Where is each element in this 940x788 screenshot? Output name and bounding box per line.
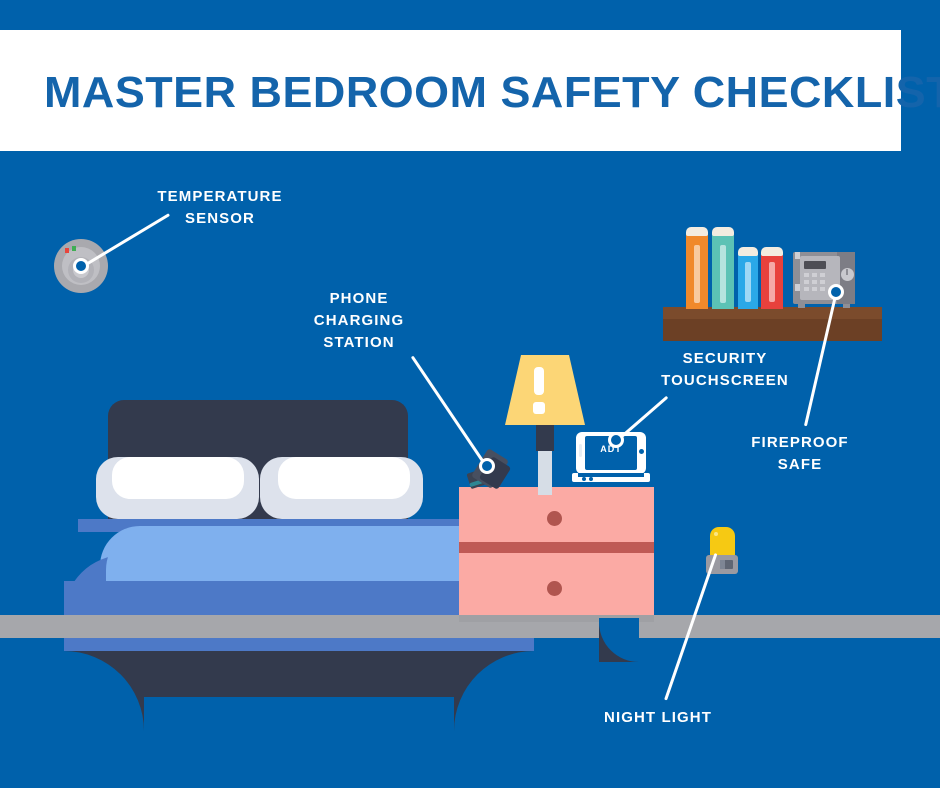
label-security-touchscreen: SECURITY TOUCHSCREEN [638,348,812,392]
safe-foot-left [798,304,805,308]
label-fireproof-safe: FIREPROOF SAFE [722,432,878,476]
lamp-neck [536,425,554,451]
safe-display [804,261,826,269]
tablet-home-button-icon[interactable] [639,449,644,454]
safe-dial-mark [846,269,848,275]
nightstand [459,487,654,622]
sensor-led-red-icon [65,248,69,253]
safe-key [812,280,817,284]
book-lightblue-cap [738,247,758,256]
shelf-front-edge [663,319,882,341]
book-teal-cap [712,227,734,236]
safe-key [820,287,825,291]
safe-foot-right [843,304,850,308]
book-red-cap [761,247,783,256]
safe-key [812,273,817,277]
pillow-left [112,457,244,499]
sensor-led-green-icon [72,246,76,251]
fireproof-safe-icon [793,252,855,308]
safe-key [820,280,825,284]
label-night-light: NIGHT LIGHT [586,707,730,729]
lamp-shade [505,355,585,425]
label-phone-charging-station: PHONE CHARGING STATION [290,288,428,354]
safe-key [804,273,809,277]
tablet-led-icon [589,477,593,481]
leader-dot-fireproof-safe [828,284,844,300]
nightstand-drawer-divider [459,542,654,553]
nightstand-knob-bottom [547,581,562,596]
book-orange-spine [694,245,700,303]
lamp-highlight-dot [533,402,545,414]
blanket-highlight [106,526,498,588]
safe-key [804,280,809,284]
wall-shelf [663,307,882,341]
lamp-pole [538,451,552,495]
tablet-side-button[interactable] [579,444,582,457]
leader-dot-security-touchscreen [608,432,624,448]
infographic-canvas: MASTER BEDROOM SAFETY CHECKLIST [0,0,940,788]
book-lightblue-spine [745,262,751,302]
lamp-highlight-bar [534,367,544,395]
safe-key [812,287,817,291]
leader-dot-temperature-sensor [73,258,89,274]
night-light-highlight [714,532,718,536]
pillow-right [278,457,410,499]
leader-dot-phone-charging-station [479,458,495,474]
tablet-stand-slot [578,473,644,477]
book-orange-cap [686,227,708,236]
nightstand-knob-top [547,511,562,526]
label-temperature-sensor: TEMPERATURE SENSOR [140,186,300,230]
book-teal-spine [720,245,726,303]
tablet-led-icon [582,477,586,481]
book-red-spine [769,262,775,302]
night-light-socket-highlight [720,560,725,569]
safe-key [804,287,809,291]
safe-key [820,273,825,277]
page-title: MASTER BEDROOM SAFETY CHECKLIST [44,68,891,118]
